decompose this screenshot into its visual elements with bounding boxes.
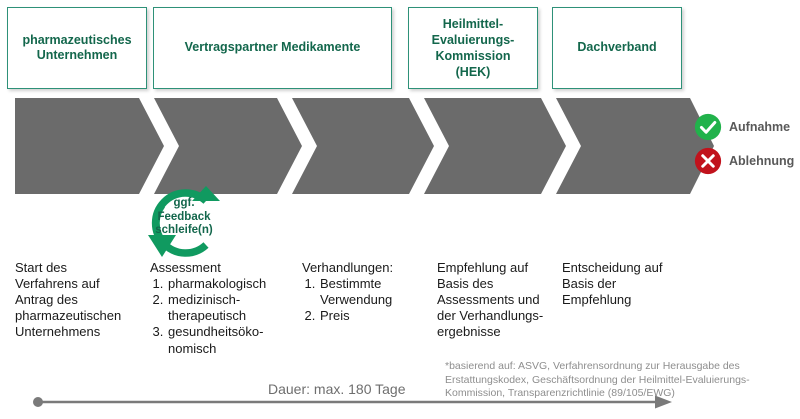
- actor-box-label: Vertragspartner Medikamente: [180, 40, 366, 55]
- description-column-evaluation: Assessment pharmakologisch medizinisch- …: [150, 260, 298, 357]
- duration-timeline-arrow: [0, 390, 800, 414]
- list-item: gesundheitsöko- nomisch: [167, 324, 298, 356]
- list-item: pharmakologisch: [167, 276, 298, 292]
- description-column-antrag: Start des Verfahrens auf Antrag des phar…: [15, 260, 155, 341]
- description-list: Bestimmte Verwendung Preis: [302, 276, 432, 324]
- description-heading: Entscheidung auf Basis der Empfehlung: [562, 260, 697, 308]
- feedback-loop[interactable]: ggf. Feedback schleife(n): [140, 183, 228, 263]
- process-stage-entscheidung[interactable]: Entscheidung: [568, 226, 698, 240]
- actor-box-dachverband[interactable]: Dachverband: [552, 7, 682, 89]
- actor-box-row: pharmazeutisches Unternehmen Vertragspar…: [0, 0, 800, 96]
- timeline-arrow-shape: [0, 390, 800, 414]
- process-stage-empfehlung[interactable]: Empfehlung: [440, 226, 565, 240]
- list-item: medizinisch- therapeutisch: [167, 292, 298, 324]
- circular-arrows-icon: [140, 183, 228, 263]
- actor-box-pharmazeutisches-unternehmen[interactable]: pharmazeutisches Unternehmen: [7, 7, 147, 89]
- outcome-label: Aufnahme: [729, 120, 790, 134]
- description-column-verhandlung: Verhandlungen: Bestimmte Verwendung Prei…: [302, 260, 432, 324]
- x-circle-icon: [694, 147, 722, 175]
- list-item: Bestimmte Verwendung: [319, 276, 432, 308]
- process-stage-antrag[interactable]: Antrag: [30, 226, 140, 240]
- description-heading: Assessment: [150, 260, 298, 276]
- outcome-ablehnung[interactable]: Ablehnung: [694, 147, 794, 175]
- actor-box-vertragspartner-medikamente[interactable]: Vertragspartner Medikamente: [153, 7, 392, 89]
- actor-box-label: pharmazeutisches Unternehmen: [17, 33, 136, 64]
- description-list: pharmakologisch medizinisch- therapeutis…: [150, 276, 298, 357]
- process-stage-verhandlung[interactable]: Verhandlung: [308, 226, 433, 240]
- description-heading: Empfehlung auf Basis des Assessments und…: [437, 260, 557, 341]
- description-column-empfehlung: Empfehlung auf Basis des Assessments und…: [437, 260, 557, 341]
- process-band-shape: [0, 96, 800, 196]
- actor-box-heilmittel-evaluierungs-kommission[interactable]: Heilmittel- Evaluierungs- Kommission (HE…: [408, 7, 538, 89]
- check-circle-icon: [694, 113, 722, 141]
- description-heading: Verhandlungen:: [302, 260, 432, 276]
- outcome-label: Ablehnung: [729, 154, 794, 168]
- actor-box-label: Heilmittel- Evaluierungs- Kommission (HE…: [427, 16, 520, 81]
- actor-box-label: Dachverband: [572, 40, 661, 55]
- list-item: Preis: [319, 308, 432, 324]
- process-chevron-band: Antrag Evaluation Verhandlung Empfehlung…: [0, 96, 800, 196]
- outcome-aufnahme[interactable]: Aufnahme: [694, 113, 790, 141]
- description-column-entscheidung: Entscheidung auf Basis der Empfehlung: [562, 260, 697, 308]
- description-heading: Start des Verfahrens auf Antrag des phar…: [15, 260, 155, 341]
